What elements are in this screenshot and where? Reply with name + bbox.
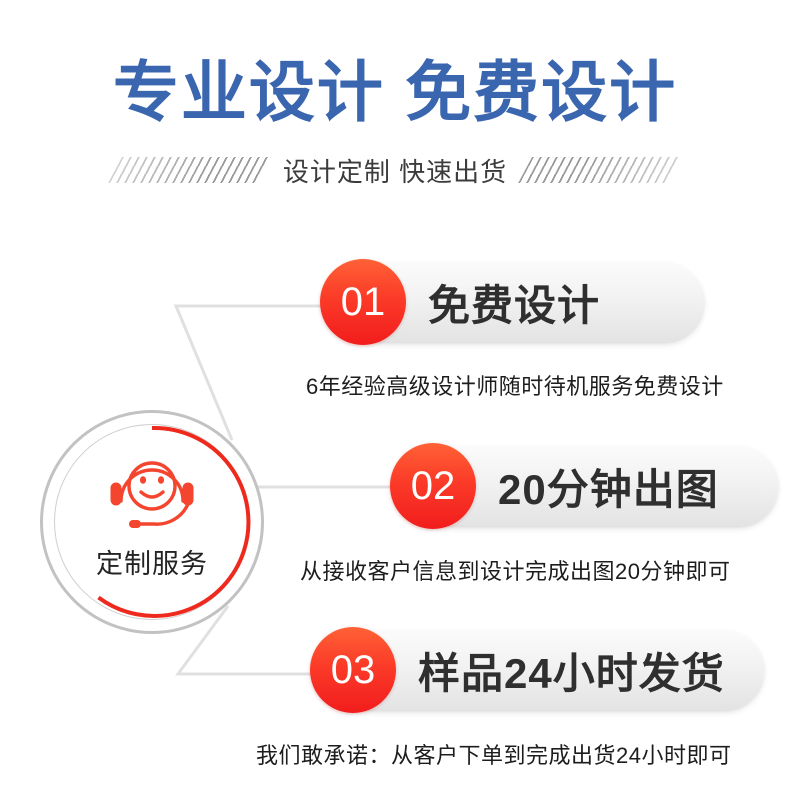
page-title: 专业设计 免费设计 bbox=[0, 52, 790, 132]
diagonal-stripes-right-icon bbox=[518, 157, 682, 183]
step-number-01: 01 bbox=[320, 259, 406, 345]
step-number-02: 02 bbox=[390, 443, 476, 529]
infographic-canvas: 专业设计 免费设计 设计定制 快速出货 bbox=[0, 0, 790, 812]
subtitle-text: 设计定制 快速出货 bbox=[283, 152, 507, 189]
step-title-03: 样品24小时发货 bbox=[418, 640, 725, 701]
step-number-03: 03 bbox=[310, 627, 396, 713]
step-bar-01[interactable]: 01 免费设计 bbox=[322, 262, 704, 342]
step-description-03: 我们敢承诺：从客户下单到完成出货24小时即可 bbox=[256, 738, 731, 770]
step-description-01: 6年经验高级设计师随时待机服务免费设计 bbox=[306, 369, 724, 401]
custom-service-hub: 定制服务 bbox=[40, 410, 264, 634]
subtitle-row: 设计定制 快速出货 bbox=[0, 150, 790, 190]
hub-label: 定制服务 bbox=[40, 542, 264, 581]
step-description-02: 从接收客户信息到设计完成出图20分钟即可 bbox=[300, 554, 730, 586]
step-bar-02[interactable]: 02 20分钟出图 bbox=[392, 446, 778, 526]
step-title-01: 免费设计 bbox=[428, 272, 600, 333]
diagonal-stripes-left-icon bbox=[108, 157, 272, 183]
step-bar-03[interactable]: 03 样品24小时发货 bbox=[312, 630, 764, 710]
headset-smiley-icon bbox=[102, 446, 202, 536]
step-title-02: 20分钟出图 bbox=[498, 456, 719, 517]
